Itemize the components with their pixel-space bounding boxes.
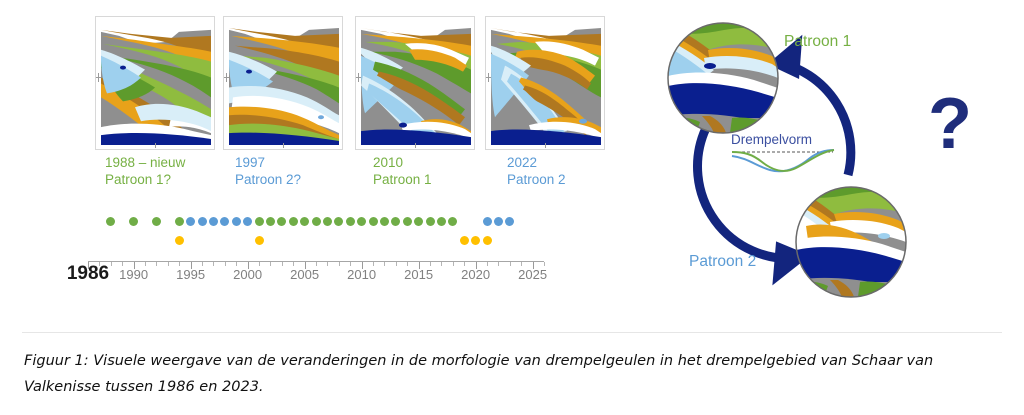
- timeline-axis-tick: [521, 262, 522, 266]
- timeline-axis-tick: [407, 262, 408, 266]
- timeline-axis-label: 1990: [119, 267, 148, 282]
- figure-area: 1988 – nieuw Patroon 1? 1997 Patroon 2? …: [0, 0, 1024, 330]
- cycle-label-drempelvorm: Drempelvorm: [731, 132, 812, 147]
- cycle-label-patroon1: Patroon 1: [784, 33, 851, 51]
- timeline-axis-label: 2010: [347, 267, 376, 282]
- timeline-axis-tick: [316, 262, 317, 266]
- timeline-dot: [448, 217, 457, 226]
- timeline-dot: [232, 217, 241, 226]
- timeline-axis-label: 2025: [518, 267, 547, 282]
- timeline-dot: [243, 217, 252, 226]
- timeline-axis-tick: [122, 262, 123, 266]
- timeline-dot: [494, 217, 503, 226]
- panel-axis-tick-bottom: [155, 143, 156, 148]
- timeline-axis-tick: [327, 262, 328, 266]
- timeline-dot: [426, 217, 435, 226]
- question-mark: ?: [928, 88, 972, 160]
- timeline-dots: [40, 205, 600, 255]
- timeline-dot: [220, 217, 229, 226]
- morphology-panel-2022: [485, 16, 605, 150]
- timeline-dot: [255, 217, 264, 226]
- panel-axis-tick-left-vertical: [358, 73, 359, 82]
- panel-caption-year: 2010: [373, 154, 432, 171]
- panel-caption-1988: 1988 – nieuw Patroon 1?: [105, 154, 185, 188]
- timeline-axis-tick: [293, 262, 294, 266]
- drempelvorm-profile-sketch: [732, 150, 834, 171]
- timeline-dot: [152, 217, 161, 226]
- timeline-dot: [186, 217, 195, 226]
- timeline-chart: 198619901995200020052010201520202025: [40, 205, 600, 300]
- cycle-diagram: Patroon 1 Patroon 2 Drempelvorm: [648, 10, 938, 310]
- timeline-dot: [471, 236, 480, 245]
- panel-axis-tick-bottom: [545, 143, 546, 148]
- timeline-axis-tick: [430, 262, 431, 266]
- caption-separator: [22, 332, 1002, 333]
- timeline-axis-tick: [498, 262, 499, 266]
- timeline-axis-tick: [464, 262, 465, 266]
- timeline-dot: [266, 217, 275, 226]
- timeline-dot: [346, 217, 355, 226]
- timeline-axis-tick: [282, 262, 283, 266]
- morphology-panel-2010: [355, 16, 475, 150]
- panel-caption-2022: 2022 Patroon 2: [507, 154, 566, 188]
- timeline-dot: [277, 217, 286, 226]
- timeline-axis-tick: [225, 262, 226, 266]
- timeline-axis-tick: [111, 262, 112, 266]
- panel-captions: 1988 – nieuw Patroon 1? 1997 Patroon 2? …: [95, 154, 615, 196]
- morphology-panel-1997: [223, 16, 343, 150]
- morphology-map-image-2010: [361, 22, 471, 145]
- morphology-map-image-1988: [101, 22, 211, 145]
- timeline-dot: [209, 217, 218, 226]
- timeline-axis-tick: [396, 262, 397, 266]
- timeline-dot: [414, 217, 423, 226]
- timeline-axis-tick: [259, 262, 260, 266]
- panel-caption-pattern: Patroon 2: [507, 171, 566, 188]
- timeline-axis-label: 1986: [67, 263, 109, 285]
- panel-caption-pattern: Patroon 1?: [105, 171, 185, 188]
- timeline-axis-tick: [179, 262, 180, 266]
- panel-axis-tick-left-vertical: [226, 73, 227, 82]
- timeline-axis-tick: [156, 262, 157, 266]
- timeline-dot: [129, 217, 138, 226]
- timeline-dot: [437, 217, 446, 226]
- panel-axis-tick-bottom: [283, 143, 284, 148]
- timeline-dot: [369, 217, 378, 226]
- timeline-axis-label: 2000: [233, 267, 262, 282]
- timeline-dot: [255, 236, 264, 245]
- timeline-axis-label: 1995: [176, 267, 205, 282]
- timeline-axis-tick: [384, 262, 385, 266]
- timeline-axis-tick: [373, 262, 374, 266]
- timeline-axis-tick: [236, 262, 237, 266]
- panel-caption-pattern: Patroon 2?: [235, 171, 301, 188]
- timeline-dot: [357, 217, 366, 226]
- timeline-axis-tick: [487, 262, 488, 266]
- timeline-dot: [391, 217, 400, 226]
- timeline-dot: [175, 236, 184, 245]
- timeline-axis-tick: [168, 262, 169, 266]
- timeline-axis-tick: [339, 262, 340, 266]
- timeline-dot: [300, 217, 309, 226]
- panel-caption-2010: 2010 Patroon 1: [373, 154, 432, 188]
- panel-caption-pattern: Patroon 1: [373, 171, 432, 188]
- timeline-axis-label: 2020: [461, 267, 490, 282]
- morphology-map-image-2022: [491, 22, 601, 145]
- morphology-map-image-1997: [229, 22, 339, 145]
- panel-caption-1997: 1997 Patroon 2?: [235, 154, 301, 188]
- timeline-dot: [289, 217, 298, 226]
- timeline-dot: [106, 217, 115, 226]
- timeline-dot: [198, 217, 207, 226]
- timeline-axis-label: 2005: [290, 267, 319, 282]
- panel-axis-tick-bottom: [415, 143, 416, 148]
- timeline-dot: [403, 217, 412, 226]
- timeline-dot: [323, 217, 332, 226]
- timeline-axis-tick: [270, 262, 271, 266]
- timeline-axis-tick: [350, 262, 351, 266]
- timeline-dot: [483, 217, 492, 226]
- morphology-panel-1988: [95, 16, 215, 150]
- timeline-axis-tick: [213, 262, 214, 266]
- timeline-axis-tick: [544, 262, 545, 266]
- timeline-axis-tick: [145, 262, 146, 266]
- timeline-axis-tick: [510, 262, 511, 266]
- panel-axis-tick-left-vertical: [488, 73, 489, 82]
- timeline-dot: [334, 217, 343, 226]
- timeline-axis-tick: [202, 262, 203, 266]
- timeline-axis-tick: [453, 262, 454, 266]
- timeline-dot: [505, 217, 514, 226]
- panel-caption-year: 1988 – nieuw: [105, 154, 185, 171]
- timeline-dot: [312, 217, 321, 226]
- timeline-dot: [483, 236, 492, 245]
- timeline-dot: [380, 217, 389, 226]
- timeline-dot: [460, 236, 469, 245]
- figure-caption: Figuur 1: Visuele weergave van de verand…: [24, 348, 1014, 400]
- morphology-panel-strip: [95, 16, 615, 150]
- timeline-dot: [175, 217, 184, 226]
- cycle-label-patroon2: Patroon 2: [689, 253, 756, 271]
- timeline-axis-tick: [441, 262, 442, 266]
- panel-caption-year: 2022: [507, 154, 566, 171]
- timeline-axis-label: 2015: [404, 267, 433, 282]
- panel-axis-tick-left-vertical: [98, 73, 99, 82]
- panel-caption-year: 1997: [235, 154, 301, 171]
